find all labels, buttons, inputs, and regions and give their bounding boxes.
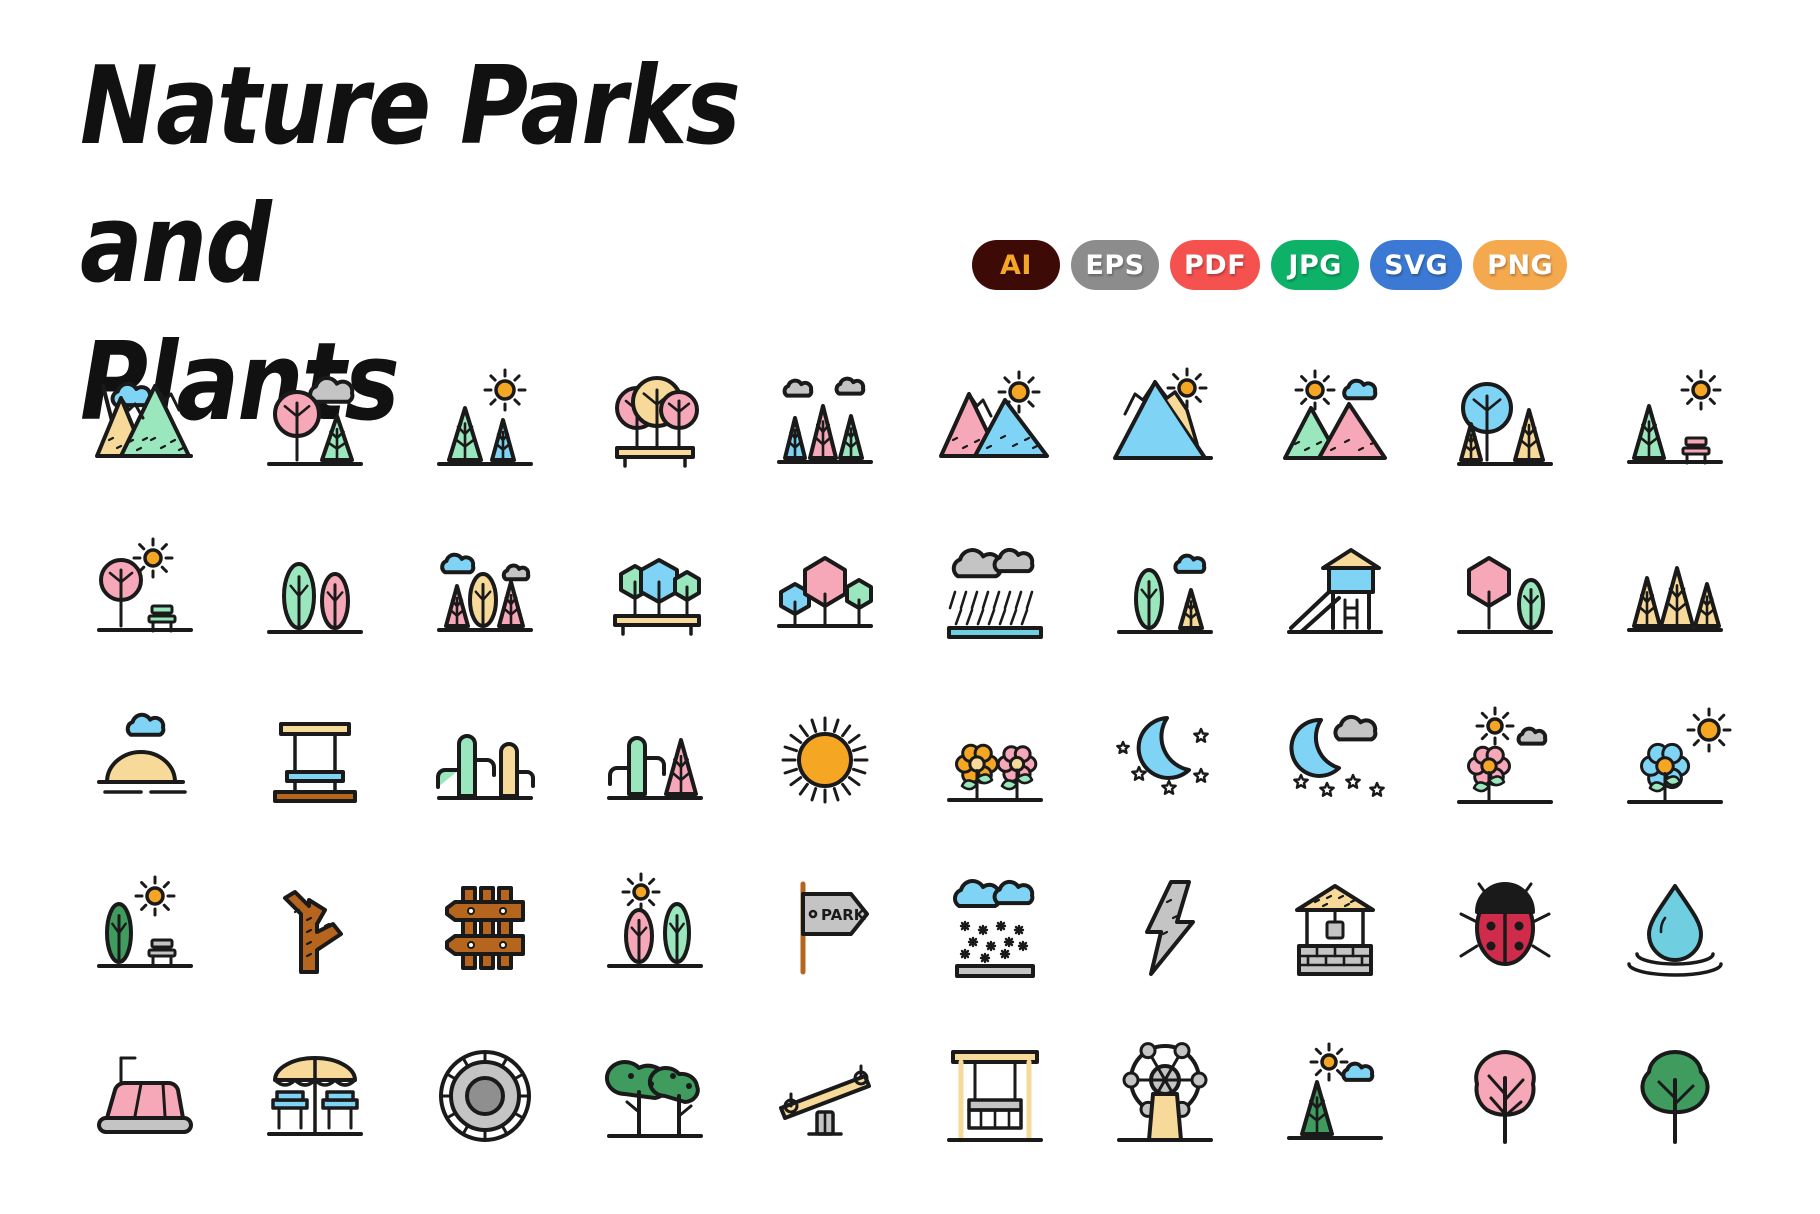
icon-set-sheet: Nature Parks and Plants AI EPS PDF JPG S…: [0, 0, 1820, 1214]
wooden-fence-icon[interactable]: [400, 844, 570, 1012]
porch-swing-icon[interactable]: [910, 1012, 1080, 1180]
rain-cloud-icon[interactable]: [910, 508, 1080, 676]
pink-hexagon-tree-icon[interactable]: [1420, 508, 1590, 676]
two-bushes-sun-icon[interactable]: [570, 844, 740, 1012]
orchard-trees-icon[interactable]: [570, 1012, 740, 1180]
sun-icon[interactable]: [740, 676, 910, 844]
two-oval-trees-icon[interactable]: [230, 508, 400, 676]
park-signpost-icon[interactable]: PARK: [740, 844, 910, 1012]
format-badge-jpg-label: JPG: [1288, 250, 1342, 281]
pine-cloud-sun-icon[interactable]: [1250, 1012, 1420, 1180]
flower-sun-icon[interactable]: [1590, 676, 1760, 844]
lightning-bolt-icon[interactable]: [1080, 844, 1250, 1012]
picnic-umbrella-benches-icon[interactable]: [230, 1012, 400, 1180]
sunrise-hill-cloud-icon[interactable]: [60, 676, 230, 844]
pine-trio-icon[interactable]: [1590, 508, 1760, 676]
mountain-range-sun-icon[interactable]: [910, 340, 1080, 508]
crescent-moon-stars-icon[interactable]: [1080, 676, 1250, 844]
pine-forest-clouds-icon[interactable]: [740, 340, 910, 508]
mountains-with-cloud-icon[interactable]: [60, 340, 230, 508]
format-badge-pdf-label: PDF: [1184, 250, 1246, 281]
format-badge-eps[interactable]: EPS: [1071, 240, 1159, 290]
format-badge-pdf[interactable]: PDF: [1170, 240, 1260, 290]
round-tree-pines-icon[interactable]: [1420, 340, 1590, 508]
park-trees-planter-icon[interactable]: [570, 340, 740, 508]
format-badge-ai-label: AI: [1000, 250, 1032, 281]
format-badge-ai[interactable]: AI: [972, 240, 1060, 290]
pine-bench-sun-icon[interactable]: [1590, 340, 1760, 508]
tree-trunk-icon[interactable]: [230, 844, 400, 1012]
stone-wheel-icon[interactable]: [400, 1012, 570, 1180]
format-badge-png[interactable]: PNG: [1473, 240, 1567, 290]
format-badge-jpg[interactable]: JPG: [1271, 240, 1359, 290]
ladybug-icon[interactable]: [1420, 844, 1590, 1012]
water-well-icon[interactable]: [1250, 844, 1420, 1012]
format-badge-list: AI EPS PDF JPG SVG PNG: [972, 240, 1567, 290]
seesaw-icon[interactable]: [740, 1012, 910, 1180]
tree-cloud-pine-icon[interactable]: [1080, 508, 1250, 676]
playground-slide-icon[interactable]: [1250, 508, 1420, 676]
bumper-car-icon[interactable]: [60, 1012, 230, 1180]
cactus-pine-icon[interactable]: [570, 676, 740, 844]
green-leafy-tree-icon[interactable]: [1590, 1012, 1760, 1180]
geometric-trees-icon[interactable]: [740, 508, 910, 676]
pink-blossom-tree-icon[interactable]: [1420, 1012, 1590, 1180]
mountains-sun-cloud-icon[interactable]: [1250, 340, 1420, 508]
format-badge-eps-label: EPS: [1085, 250, 1144, 281]
hexagon-trees-planter-icon[interactable]: [570, 508, 740, 676]
water-drop-icon[interactable]: [1590, 844, 1760, 1012]
tree-pine-cloud-icon[interactable]: [230, 340, 400, 508]
moon-cloud-stars-icon[interactable]: [1250, 676, 1420, 844]
format-badge-svg[interactable]: SVG: [1370, 240, 1462, 290]
tree-bench-sun-alt-icon[interactable]: [60, 844, 230, 1012]
forest-clouds-icon[interactable]: [400, 508, 570, 676]
format-badge-png-label: PNG: [1487, 250, 1553, 281]
ferris-wheel-icon[interactable]: [1080, 1012, 1250, 1180]
cactus-pair-icon[interactable]: [400, 676, 570, 844]
two-flowers-icon[interactable]: [910, 676, 1080, 844]
header: Nature Parks and Plants AI EPS PDF JPG S…: [0, 0, 1820, 330]
tree-bench-sun-icon[interactable]: [60, 508, 230, 676]
pines-with-sun-icon[interactable]: [400, 340, 570, 508]
format-badge-svg-label: SVG: [1384, 250, 1448, 281]
swing-icon[interactable]: [230, 676, 400, 844]
svg-text:PARK: PARK: [821, 906, 867, 924]
snowy-peak-sun-icon[interactable]: [1080, 340, 1250, 508]
flower-cloud-sun-icon[interactable]: [1420, 676, 1590, 844]
snow-cloud-icon[interactable]: [910, 844, 1080, 1012]
icon-grid: PARK: [60, 340, 1760, 1180]
